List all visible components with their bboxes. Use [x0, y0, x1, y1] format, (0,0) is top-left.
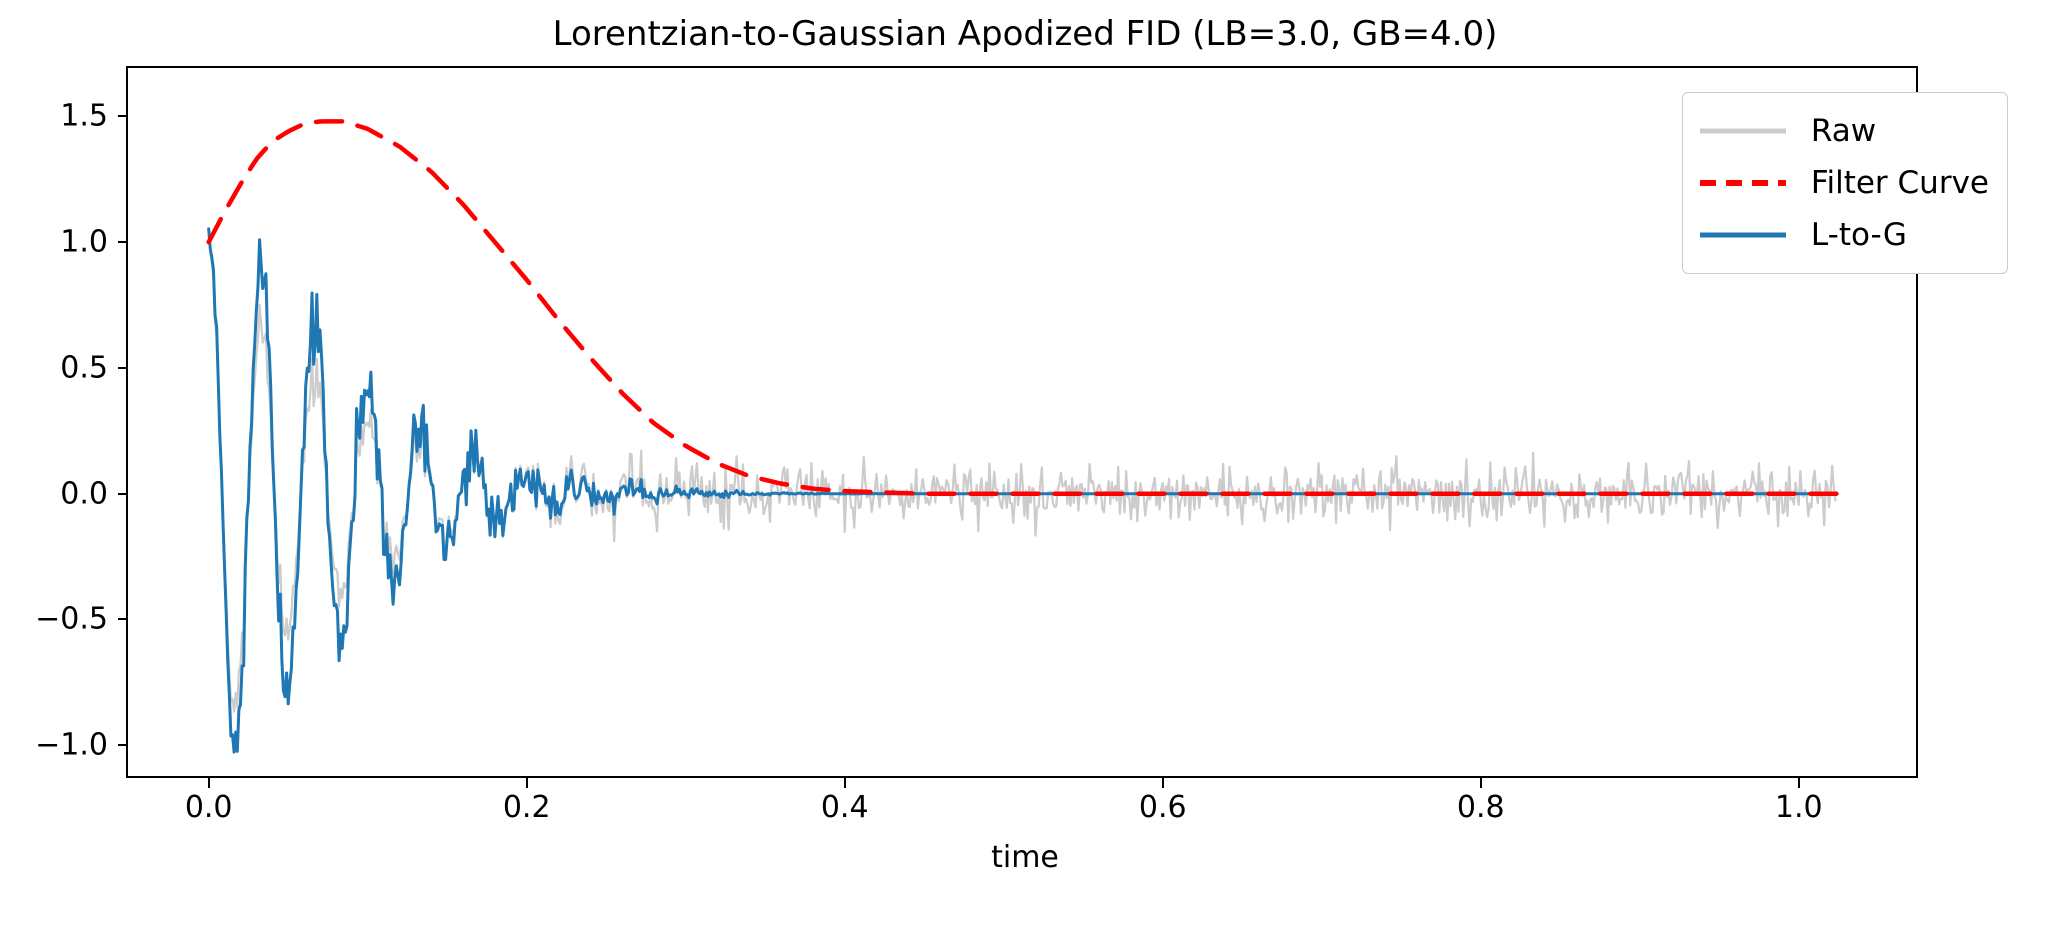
plot-area [126, 66, 1918, 778]
legend-line-icon [1697, 172, 1789, 194]
chart-title: Lorentzian-to-Gaussian Apodized FID (LB=… [0, 14, 2050, 54]
y-tick-label: 0.0 [60, 476, 108, 511]
x-tick-label: 0.0 [185, 790, 233, 825]
x-tick-label: 0.2 [503, 790, 551, 825]
x-tick-mark [844, 778, 846, 788]
y-tick-label: 0.5 [60, 350, 108, 385]
legend-entry[interactable]: L-to-G [1697, 209, 1989, 261]
y-tick-label: 1.0 [60, 225, 108, 260]
x-tick-label: 0.4 [821, 790, 869, 825]
chart-legend: RawFilter CurveL-to-G [1682, 92, 2008, 274]
y-tick-label: 1.5 [60, 99, 108, 134]
legend-label: Filter Curve [1811, 165, 1989, 201]
y-tick-label: −1.0 [35, 728, 108, 763]
x-axis-tick-labels: 0.00.20.40.60.81.0 [126, 790, 1918, 836]
legend-entry[interactable]: Filter Curve [1697, 157, 1989, 209]
legend-line-icon [1697, 120, 1789, 142]
x-tick-mark [1480, 778, 1482, 788]
x-tick-mark [1162, 778, 1164, 788]
x-tick-mark [1798, 778, 1800, 788]
legend-entry[interactable]: Raw [1697, 105, 1989, 157]
y-axis-tick-labels: 1.51.00.50.0−0.5−1.0 [0, 66, 108, 778]
x-tick-label: 0.8 [1457, 790, 1505, 825]
legend-label: Raw [1811, 113, 1876, 149]
x-tick-mark [526, 778, 528, 788]
x-tick-label: 0.6 [1139, 790, 1187, 825]
x-axis-label: time [0, 840, 2050, 875]
y-tick-label: −0.5 [35, 602, 108, 637]
x-tick-label: 1.0 [1775, 790, 1823, 825]
matplotlib-figure: Lorentzian-to-Gaussian Apodized FID (LB=… [0, 0, 2050, 945]
legend-line-icon [1697, 224, 1789, 246]
x-tick-mark [208, 778, 210, 788]
legend-label: L-to-G [1811, 217, 1907, 253]
axes-frame [126, 66, 1918, 778]
